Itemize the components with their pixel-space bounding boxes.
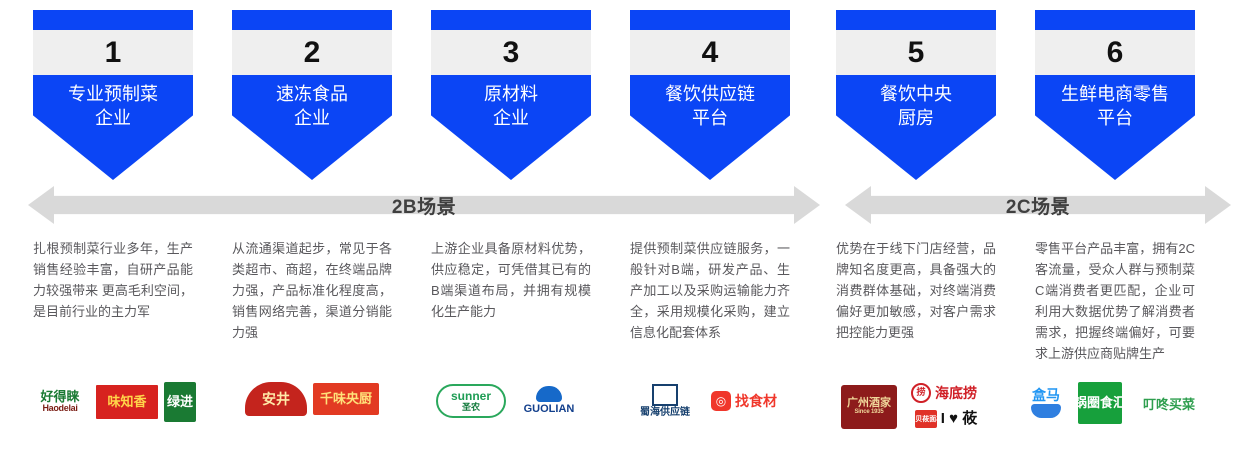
logo-guolian: GUOLIAN	[512, 382, 586, 420]
pentagon-card-5[interactable]: 5 餐饮中央 厨房	[836, 10, 996, 180]
logo-xibei-text: I ♥ 莜	[941, 411, 977, 427]
pentagon-card-1[interactable]: 1 专业预制菜 企业	[33, 10, 193, 180]
logo-lvjin: 绿进	[164, 382, 196, 422]
column-6: 6 生鲜电商零售 平台 零售平台产品丰富，拥有2C客流量，受众人群与预制菜C端消…	[1035, 0, 1195, 452]
logo-guangzhou-text: 广州酒家	[847, 398, 891, 410]
logo-dingdong-maicai: 叮咚买菜	[1126, 392, 1212, 418]
hema-face-icon	[1031, 404, 1061, 418]
logo-sunner-sub: 圣农	[462, 403, 480, 412]
pentagon-card-6[interactable]: 6 生鲜电商零售 平台	[1035, 10, 1195, 180]
logo-row-2: 安井 千味央厨	[212, 382, 412, 416]
logo-row-5: 广州酒家 Since 1935 捞 海底捞 西贝莜面村 I ♥ 莜	[816, 382, 1016, 431]
logo-haodelai: 好得睐 Haodelai	[30, 384, 90, 420]
infographic-canvas: 1 专业预制菜 企业 扎根预制菜行业多年，生产销售经验丰富，自研产品能力较强带来…	[0, 0, 1235, 452]
logo-row-6: 盒马 锅圈食汇 叮咚买菜	[1015, 382, 1215, 424]
logo-sunner: sunner 圣农	[436, 384, 506, 418]
pentagon-card-4[interactable]: 4 餐饮供应链 平台	[630, 10, 790, 180]
logo-qianwei-text: 千味央厨	[320, 392, 372, 406]
logo-guoquan-text: 锅圈食汇	[1078, 396, 1122, 410]
logo-weizhixiang-text: 味知香	[107, 395, 146, 409]
logo-haidilao: 捞 海底捞	[901, 382, 987, 404]
scenario-label-2c: 2C场景	[845, 186, 1231, 224]
logo-guoquan-shihui: 锅圈食汇	[1078, 382, 1122, 424]
logo-qianwei-yangchu: 千味央厨	[313, 383, 379, 415]
guolian-mark-icon	[536, 386, 562, 402]
description-4: 提供预制菜供应链服务，一般针对B端，研发产品、生产加工以及采购运输能力齐全，采用…	[630, 238, 790, 343]
pentagon-number-4: 4	[702, 38, 719, 68]
pentagon-number-6: 6	[1107, 38, 1124, 68]
pentagon-number-3: 3	[503, 38, 520, 68]
column-4: 4 餐饮供应链 平台 提供预制菜供应链服务，一般针对B端，研发产品、生产加工以及…	[630, 0, 790, 452]
logo-guangzhou-jiujia: 广州酒家 Since 1935	[841, 385, 897, 429]
logo-haidilao-text: 海底捞	[935, 386, 977, 401]
logo-hema: 盒马	[1018, 382, 1074, 424]
pentagon-number-2: 2	[304, 38, 321, 68]
logo-shuhai-gongyinglian: 蜀海供应链	[634, 382, 696, 420]
number-band-5: 5	[836, 30, 996, 75]
logo-haodelai-sub: Haodelai	[42, 404, 77, 413]
logo-guangzhou-sub: Since 1935	[854, 409, 883, 415]
logo-anjing: 安井	[245, 382, 307, 416]
description-3: 上游企业具备原材料优势，供应稳定，可凭借其已有的B端渠道布局，并拥有规模化生产能…	[431, 238, 591, 322]
logo-stack-5: 捞 海底捞 西贝莜面村 I ♥ 莜	[901, 382, 991, 431]
logo-xibei: 西贝莜面村 I ♥ 莜	[901, 407, 991, 431]
logo-weizhixiang: 味知香	[96, 385, 158, 419]
column-1: 1 专业预制菜 企业 扎根预制菜行业多年，生产销售经验丰富，自研产品能力较强带来…	[33, 0, 193, 452]
pentagon-card-2[interactable]: 2 速冻食品 企业	[232, 10, 392, 180]
logo-dingdong-text: 叮咚买菜	[1143, 398, 1195, 412]
logo-anjing-text: 安井	[262, 392, 290, 407]
logo-hema-text: 盒马	[1032, 388, 1060, 403]
number-band-4: 4	[630, 30, 790, 75]
column-5: 5 餐饮中央 厨房 优势在于线下门店经营，品牌知名度更高，具备强大的消费群体基础…	[836, 0, 996, 452]
number-band-3: 3	[431, 30, 591, 75]
logo-shuhai-text: 蜀海供应链	[640, 408, 690, 419]
description-5: 优势在于线下门店经营，品牌知名度更高，具备强大的消费群体基础，对终端消费偏好更加…	[836, 238, 996, 343]
description-2: 从流通渠道起步，常见于各类超市、商超，在终端品牌力强，产品标准化程度高，销售网络…	[232, 238, 392, 343]
pentagon-card-3[interactable]: 3 原材料 企业	[431, 10, 591, 180]
number-band-2: 2	[232, 30, 392, 75]
logo-row-1: 好得睐 Haodelai 味知香 绿进	[13, 382, 213, 422]
scenario-label-2b: 2B场景	[28, 186, 820, 224]
number-band-6: 6	[1035, 30, 1195, 75]
description-6: 零售平台产品丰富，拥有2C客流量，受众人群与预制菜C端消费者更匹配，企业可利用大…	[1035, 238, 1195, 364]
logo-sunner-text: sunner	[451, 390, 491, 403]
logo-row-4: 蜀海供应链 ◎ 找食材	[610, 382, 810, 420]
zhaoshicai-mark-icon: ◎	[711, 391, 731, 411]
pentagon-number-1: 1	[105, 38, 122, 68]
number-band-1: 1	[33, 30, 193, 75]
logo-guolian-text: GUOLIAN	[524, 404, 575, 416]
logo-zhaoshicai: ◎ 找食材	[702, 386, 786, 416]
xibei-tag-icon: 西贝莜面村	[915, 410, 937, 428]
pentagon-number-5: 5	[908, 38, 925, 68]
description-1: 扎根预制菜行业多年，生产销售经验丰富，自研产品能力较强带来 更高毛利空间，是目前…	[33, 238, 193, 322]
column-2: 2 速冻食品 企业 从流通渠道起步，常见于各类超市、商超，在终端品牌力强，产品标…	[232, 0, 392, 452]
logo-zhaoshicai-text: 找食材	[735, 394, 777, 409]
haidilao-mark-icon: 捞	[911, 383, 931, 403]
logo-row-3: sunner 圣农 GUOLIAN	[411, 382, 611, 420]
column-3: 3 原材料 企业 上游企业具备原材料优势，供应稳定，可凭借其已有的B端渠道布局，…	[431, 0, 591, 452]
logo-haodelai-text: 好得睐	[40, 390, 79, 404]
shuhai-mark-icon	[652, 384, 678, 406]
logo-lvjin-text: 绿进	[167, 395, 193, 409]
